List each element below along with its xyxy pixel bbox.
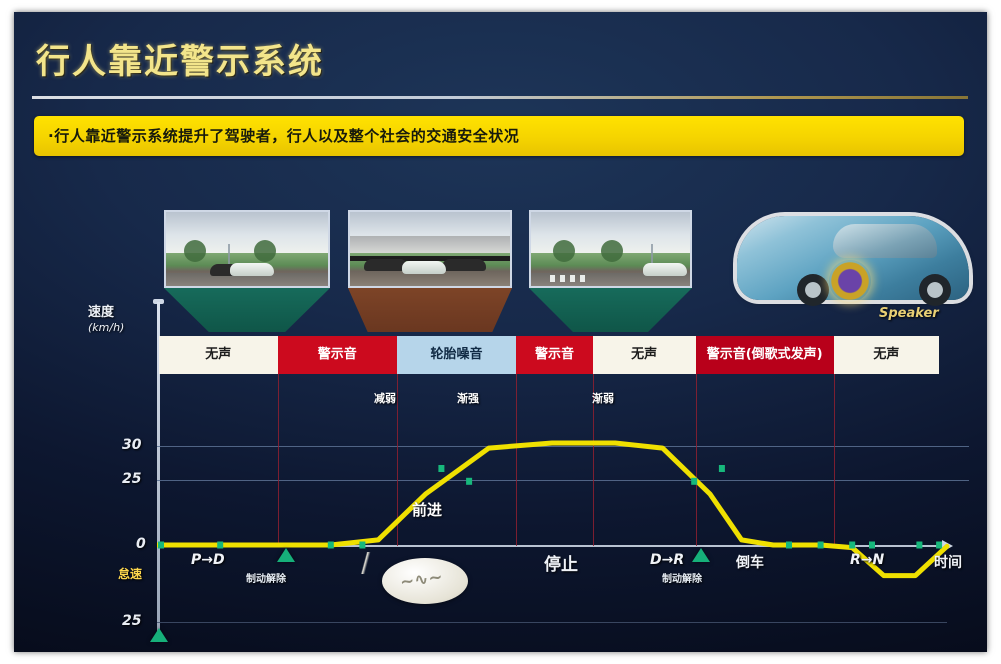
phase-label-5: 警示音(倒歌式发声) — [696, 336, 834, 374]
x-marker-reverse: 倒车 — [736, 552, 764, 572]
phase-label-line: 警示音 — [535, 348, 574, 362]
phase-label-4: 无声 — [593, 336, 696, 374]
curve-markers — [158, 465, 942, 549]
phase-label-0: 无声 — [159, 336, 278, 374]
curve-marker-4 — [438, 465, 444, 472]
phase-label-line: 无声 — [873, 348, 899, 362]
phase-label-line: 轮胎 — [431, 348, 457, 362]
phase-label-line: 警示音 — [318, 348, 357, 362]
phase-label-bar: 无声警示音轮胎噪音警示音无声警示音(倒歌式发声)无声 — [159, 336, 939, 374]
curve-marker-10 — [849, 542, 855, 549]
speed-curve — [157, 392, 957, 632]
marker-triangle-axis-bottom — [150, 628, 168, 642]
curve-marker-3 — [359, 542, 365, 549]
x-marker-r-to-n: R→N — [850, 552, 884, 568]
phase-label-line: 警示音 — [707, 348, 746, 362]
callout-squiggle: ~∿~ — [399, 567, 444, 593]
y-tick-25: 25 — [122, 471, 141, 487]
curve-marker-8 — [786, 542, 792, 549]
curve-marker-7 — [719, 465, 725, 472]
curve-marker-1 — [217, 542, 223, 549]
phase-label-3: 警示音 — [516, 336, 592, 374]
y-tick-0: 0 — [136, 536, 146, 552]
y-axis-title-text: 速度 — [88, 305, 114, 320]
curve-marker-11 — [869, 542, 875, 549]
marker-triangle-brake-release-1 — [277, 548, 295, 562]
annotation-forward: 前进 — [412, 499, 442, 520]
y-axis-title: 速度 (km/h) — [88, 305, 124, 335]
x-axis-label-time: 时间 — [934, 552, 962, 572]
marker-triangle-brake-release-2 — [692, 548, 710, 562]
phase-label-line: 噪音 — [457, 348, 483, 362]
phase-label-6: 无声 — [834, 336, 939, 374]
curve-marker-5 — [466, 478, 472, 485]
phase-label-1: 警示音 — [278, 336, 397, 374]
y-tick-minus-25: 25 — [122, 613, 141, 629]
annotation-rise: 渐强 — [457, 390, 479, 406]
annotation-fade: 减弱 — [374, 390, 396, 406]
curve-marker-9 — [818, 542, 824, 549]
curve-marker-13 — [936, 542, 942, 549]
phase-label-line: 无声 — [631, 348, 657, 362]
phase-label-2: 轮胎噪音 — [397, 336, 516, 374]
x-marker-d-to-r: D→R — [650, 552, 684, 568]
curve-marker-12 — [916, 542, 922, 549]
slide: 行人靠近警示系统 ·行人靠近警示系统提升了驾驶者，行人以及整个社会的交通安全状况 — [14, 12, 987, 652]
phase-label-line: 无声 — [205, 348, 231, 362]
idle-label: 怠速 — [118, 565, 142, 582]
phase-label-line: (倒歌式发声) — [746, 348, 823, 362]
callout-bubble: ~∿~ — [382, 558, 468, 604]
x-marker-p-to-d: P→D — [191, 552, 225, 568]
annotation-fade2: 渐弱 — [592, 390, 614, 406]
curve-marker-6 — [691, 478, 697, 485]
curve-marker-0 — [158, 542, 164, 549]
x-note-brake-release-2: 制动解除 — [662, 570, 702, 585]
y-tick-30: 30 — [122, 437, 141, 453]
y-axis-unit: (km/h) — [88, 321, 124, 334]
curve-marker-2 — [328, 542, 334, 549]
x-marker-stop: 停止 — [544, 550, 578, 575]
x-note-brake-release-1: 制动解除 — [246, 570, 286, 585]
speed-sound-chart: 速度 (km/h) 30 25 0 25 怠速 无声警示音轮胎噪音警示音无声警示… — [14, 12, 987, 652]
